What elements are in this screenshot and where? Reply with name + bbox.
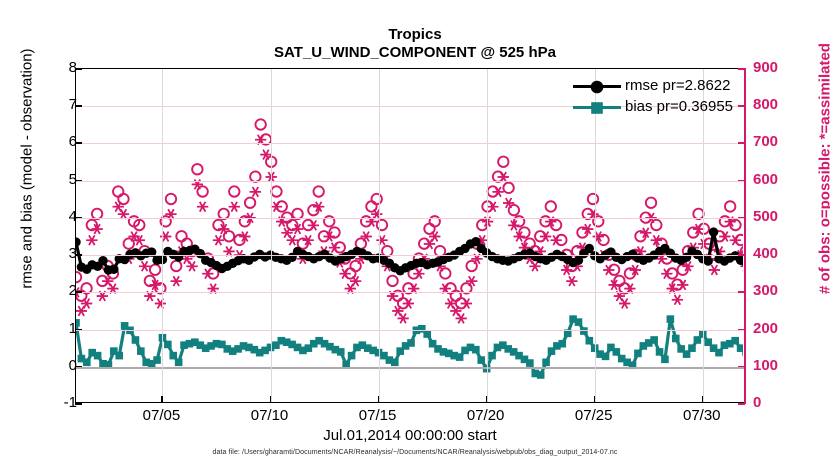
y-tick-label-right: 500 <box>753 208 799 225</box>
bias-series <box>76 315 743 378</box>
y-tick-label-left: 3 <box>37 245 77 262</box>
y-tick-label-left: 1 <box>37 320 77 337</box>
y-tick-label-left: 4 <box>37 208 77 225</box>
zero-reference-line <box>76 367 744 369</box>
data-file-caption: data file: /Users/gharamti/Documents/NCA… <box>0 449 830 456</box>
legend-label-bias: bias pr=0.36955 <box>625 97 733 117</box>
y-tick-label-right: 0 <box>753 394 799 411</box>
x-tick-label: 07/20 <box>451 407 521 424</box>
gridline-vertical <box>271 69 272 402</box>
chart-subtitle: SAT_U_WIND_COMPONENT @ 525 hPa <box>0 44 830 61</box>
gridline-horizontal <box>76 292 744 293</box>
gridline-vertical <box>162 69 163 402</box>
y-tick-mark-left <box>75 180 82 182</box>
x-tick-label: 07/10 <box>235 407 305 424</box>
y-tick-mark-right <box>738 105 745 107</box>
y-tick-mark-right <box>738 180 745 182</box>
y-tick-label-left: 6 <box>37 133 77 150</box>
x-tick-label: 07/05 <box>126 407 196 424</box>
x-tick-mark <box>702 396 704 403</box>
y-tick-mark-right <box>738 254 745 256</box>
y-tick-label-right: 600 <box>753 171 799 188</box>
y-tick-label-right: 900 <box>753 59 799 76</box>
y-tick-label-right: 300 <box>753 282 799 299</box>
y-tick-label-left: 2 <box>37 282 77 299</box>
y-tick-label-right: 100 <box>753 357 799 374</box>
obs-assimilated-markers <box>76 135 743 323</box>
y-tick-mark-left <box>75 217 82 219</box>
gridline-horizontal <box>76 255 744 256</box>
y-tick-label-left: 0 <box>37 357 77 374</box>
x-axis-label: Jul.01,2014 00:00:00 start <box>0 427 820 444</box>
x-tick-label: 07/25 <box>559 407 629 424</box>
gridline-vertical <box>487 69 488 402</box>
y-tick-mark-left <box>75 105 82 107</box>
legend-item-bias[interactable]: bias pr=0.36955 <box>573 97 743 118</box>
x-tick-mark <box>161 396 163 403</box>
y-tick-label-left: 8 <box>37 59 77 76</box>
y-tick-mark-left <box>75 254 82 256</box>
y-tick-label-left: -1 <box>37 394 77 411</box>
y-tick-mark-right <box>738 217 745 219</box>
y-tick-mark-right <box>738 329 745 331</box>
x-tick-mark <box>270 396 272 403</box>
x-tick-mark <box>594 396 596 403</box>
y-tick-label-right: 800 <box>753 96 799 113</box>
legend-label-rmse: rmse pr=2.8622 <box>625 76 730 96</box>
gridline-horizontal <box>76 143 744 144</box>
y-tick-mark-left <box>75 366 82 368</box>
gridline-horizontal <box>76 181 744 182</box>
x-tick-mark <box>486 396 488 403</box>
y-tick-mark-left <box>75 329 82 331</box>
y-tick-mark-right <box>738 366 745 368</box>
y-tick-mark-left <box>75 403 82 405</box>
chart-page: Tropics SAT_U_WIND_COMPONENT @ 525 hPa r… <box>0 0 830 470</box>
y-tick-label-right: 700 <box>753 133 799 150</box>
y-tick-mark-left <box>75 68 82 70</box>
gridline-horizontal <box>76 330 744 331</box>
y-axis-label-left: rmse and bias (model - observation) <box>19 14 36 324</box>
y-tick-mark-left <box>75 142 82 144</box>
y-tick-mark-right <box>738 68 745 70</box>
chart-legend: rmse pr=2.8622 bias pr=0.36955 <box>573 76 743 120</box>
gridline-vertical <box>379 69 380 402</box>
y-tick-label-right: 200 <box>753 320 799 337</box>
y-tick-mark-left <box>75 291 82 293</box>
y-tick-label-left: 5 <box>37 171 77 188</box>
y-axis-label-right: # of obs: o=possible; *=assimilated <box>817 4 830 334</box>
x-tick-mark <box>378 396 380 403</box>
y-tick-mark-right <box>738 142 745 144</box>
x-tick-label: 07/30 <box>667 407 737 424</box>
legend-item-rmse[interactable]: rmse pr=2.8622 <box>573 76 743 97</box>
legend-square-icon <box>590 101 604 115</box>
y-tick-label-right: 400 <box>753 245 799 262</box>
y-tick-mark-right <box>738 403 745 405</box>
chart-title: Tropics <box>0 26 830 43</box>
right-axis-line <box>744 68 746 404</box>
y-tick-label-left: 7 <box>37 96 77 113</box>
y-tick-mark-right <box>738 291 745 293</box>
x-tick-label: 07/15 <box>343 407 413 424</box>
gridline-horizontal <box>76 218 744 219</box>
legend-circle-icon <box>590 80 604 94</box>
